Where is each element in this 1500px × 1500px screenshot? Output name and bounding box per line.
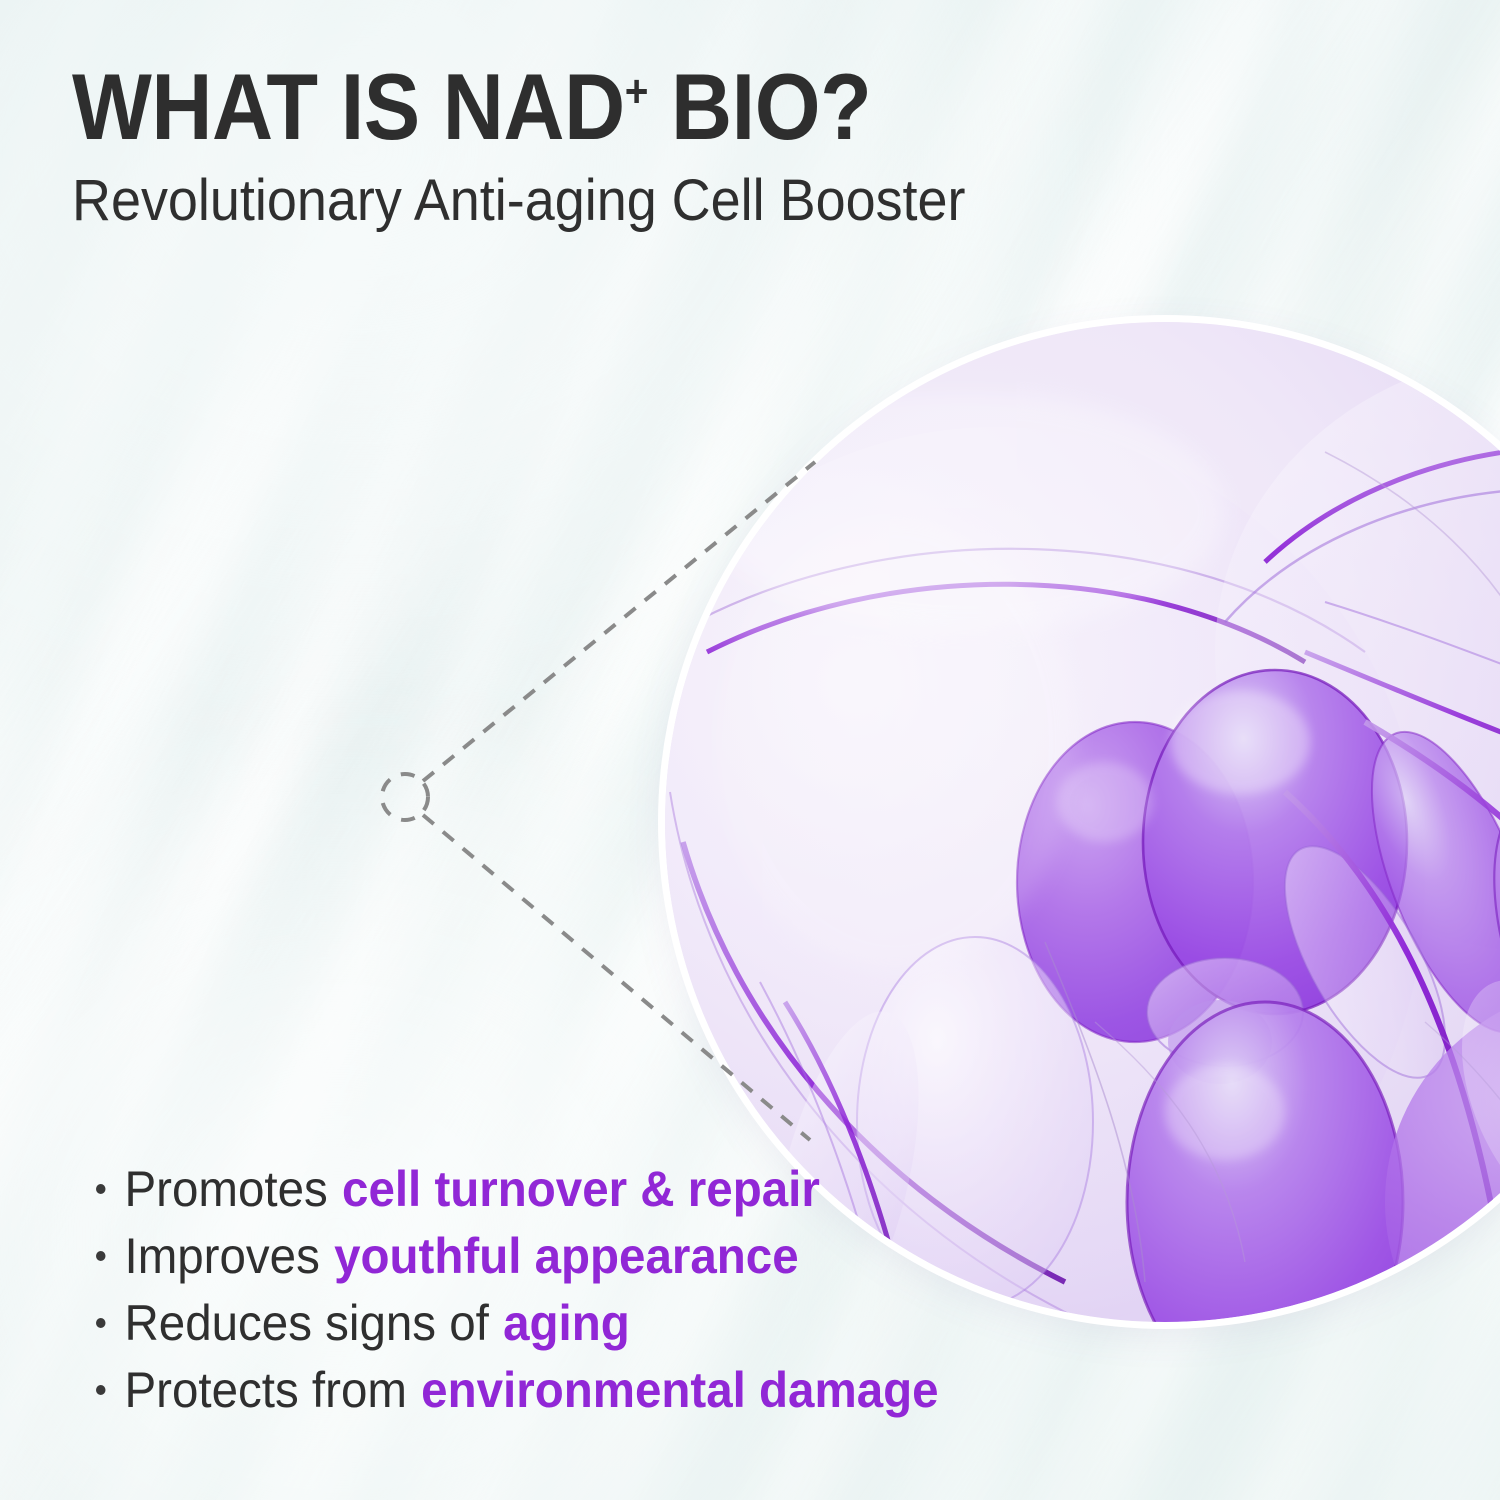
- bullet-dot-icon: [96, 1184, 106, 1194]
- page-subtitle: Revolutionary Anti-aging Cell Booster: [72, 172, 1114, 230]
- list-item: Promotes cell turnover & repair: [96, 1160, 951, 1219]
- bullet-dot-icon: [96, 1318, 106, 1328]
- list-item: Improves youthful appearance: [96, 1227, 951, 1286]
- page-title: WHAT IS NAD+ BIO?: [72, 60, 1080, 154]
- bullet-dot-icon: [96, 1385, 106, 1395]
- page-title-tail: BIO?: [648, 54, 871, 159]
- benefit-highlight: youthful appearance: [334, 1227, 799, 1286]
- page-title-main: WHAT IS NAD: [72, 54, 625, 159]
- benefit-text: Protects from: [125, 1361, 407, 1420]
- infographic-canvas: WHAT IS NAD+ BIO? Revolutionary Anti-agi…: [0, 0, 1500, 1500]
- header-block: WHAT IS NAD+ BIO? Revolutionary Anti-agi…: [72, 60, 1192, 230]
- benefit-highlight: environmental damage: [421, 1361, 938, 1420]
- benefit-highlight: aging: [503, 1294, 630, 1353]
- nad-plus-superscript-icon: +: [625, 66, 648, 117]
- bullet-dot-icon: [96, 1251, 106, 1261]
- benefits-list: Promotes cell turnover & repair Improves…: [96, 1160, 996, 1428]
- benefit-text: Improves: [125, 1227, 320, 1286]
- benefit-text: Reduces signs of: [125, 1294, 489, 1353]
- list-item: Protects from environmental damage: [96, 1361, 951, 1420]
- benefit-highlight: cell turnover & repair: [342, 1160, 820, 1219]
- list-item: Reduces signs of aging: [96, 1294, 951, 1353]
- benefit-text: Promotes: [125, 1160, 328, 1219]
